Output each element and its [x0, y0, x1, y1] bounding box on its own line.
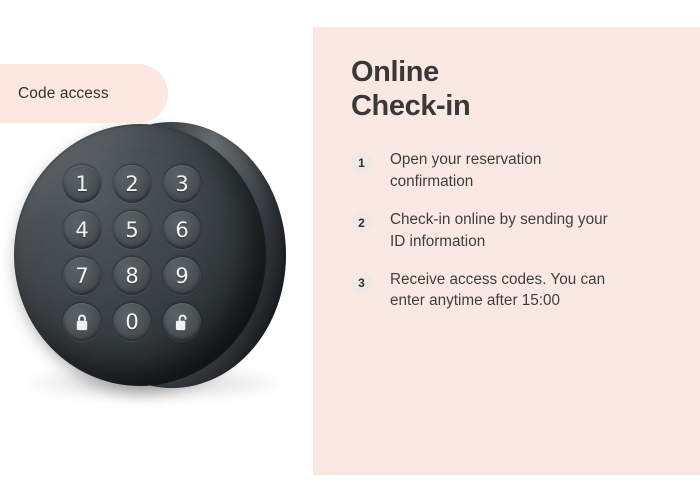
- online-checkin-panel: Online Check-in 1 Open your reservation …: [313, 27, 700, 475]
- keypad-key-unlock[interactable]: [163, 303, 201, 341]
- slide-root: 1 2 3 4 5 6 7 8 9: [0, 0, 700, 500]
- step-number-badge: 2: [351, 212, 372, 233]
- code-access-badge: Code access: [0, 64, 168, 123]
- keypad-key-1-label: 1: [75, 174, 88, 195]
- step-text: Check-in online by sending your ID infor…: [390, 209, 622, 252]
- step-text: Open your reservation confirmation: [390, 149, 622, 192]
- keypad-key-9-label: 9: [175, 266, 188, 287]
- keypad-key-2-label: 2: [125, 174, 138, 195]
- keypad-key-7-label: 7: [75, 266, 88, 287]
- keypad[interactable]: 1 2 3 4 5 6 7 8 9: [57, 162, 207, 346]
- step-text: Receive access codes. You can enter anyt…: [390, 269, 622, 312]
- keypad-key-9[interactable]: 9: [163, 257, 201, 295]
- lock-closed-icon: [75, 314, 89, 331]
- steps-list: 1 Open your reservation confirmation 2 C…: [351, 149, 666, 311]
- keypad-key-8[interactable]: 8: [113, 257, 151, 295]
- keypad-key-3[interactable]: 3: [163, 165, 201, 203]
- keypad-key-0-label: 0: [125, 312, 138, 333]
- keypad-key-2[interactable]: 2: [113, 165, 151, 203]
- keypad-key-4-label: 4: [75, 220, 88, 241]
- code-access-label: Code access: [18, 85, 109, 103]
- keypad-key-6-label: 6: [175, 220, 188, 241]
- keypad-key-6[interactable]: 6: [163, 211, 201, 249]
- keypad-key-8-label: 8: [125, 266, 138, 287]
- step-number-badge: 3: [351, 272, 372, 293]
- keypad-key-4[interactable]: 4: [63, 211, 101, 249]
- product-photo-panel: 1 2 3 4 5 6 7 8 9: [0, 0, 313, 500]
- keypad-key-0[interactable]: 0: [113, 303, 151, 341]
- list-item: 1 Open your reservation confirmation: [351, 149, 666, 192]
- keypad-key-5-label: 5: [125, 220, 138, 241]
- keypad-key-lock[interactable]: [63, 303, 101, 341]
- keypad-key-5[interactable]: 5: [113, 211, 151, 249]
- list-item: 2 Check-in online by sending your ID inf…: [351, 209, 666, 252]
- keypad-key-3-label: 3: [175, 174, 188, 195]
- keypad-key-7[interactable]: 7: [63, 257, 101, 295]
- step-number-badge: 1: [351, 152, 372, 173]
- list-item: 3 Receive access codes. You can enter an…: [351, 269, 666, 312]
- keypad-key-1[interactable]: 1: [63, 165, 101, 203]
- lock-open-icon: [175, 314, 189, 331]
- page-title: Online Check-in: [351, 55, 666, 123]
